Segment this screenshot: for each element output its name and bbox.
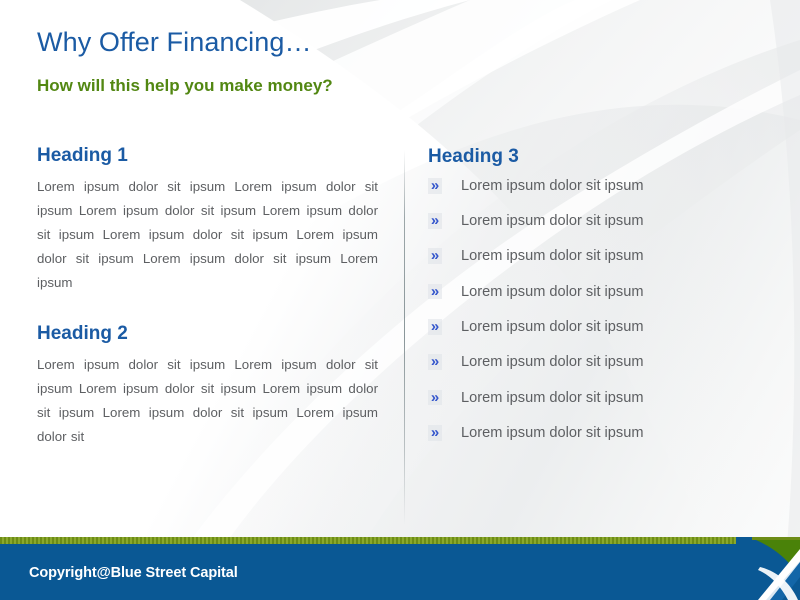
list-item: » Lorem ipsum dolor sit ipsum [428, 213, 768, 230]
double-chevron-icon: » [428, 354, 442, 370]
list-item-label: Lorem ipsum dolor sit ipsum [461, 319, 644, 336]
heading-1: Heading 1 [37, 146, 378, 167]
list-item: » Lorem ipsum dolor sit ipsum [428, 425, 768, 442]
list-item: » Lorem ipsum dolor sit ipsum [428, 178, 768, 195]
list-item-label: Lorem ipsum dolor sit ipsum [461, 248, 644, 265]
double-chevron-icon: » [428, 390, 442, 406]
list-item: » Lorem ipsum dolor sit ipsum [428, 284, 768, 301]
double-chevron-icon: » [428, 248, 442, 264]
heading-2: Heading 2 [37, 324, 378, 345]
list-item-label: Lorem ipsum dolor sit ipsum [461, 213, 644, 230]
list-item: » Lorem ipsum dolor sit ipsum [428, 354, 768, 371]
list-item-label: Lorem ipsum dolor sit ipsum [461, 178, 644, 195]
copyright-text: Copyright@Blue Street Capital [29, 565, 238, 581]
right-content-column: Heading 3 » Lorem ipsum dolor sit ipsum … [428, 147, 768, 460]
paragraph-2: Lorem ipsum dolor sit ipsum Lorem ipsum … [37, 353, 378, 449]
list-item-label: Lorem ipsum dolor sit ipsum [461, 284, 644, 301]
footer-green-stripe [0, 537, 800, 544]
double-chevron-icon: » [428, 213, 442, 229]
heading-3: Heading 3 [428, 147, 768, 168]
left-content-column: Heading 1 Lorem ipsum dolor sit ipsum Lo… [37, 146, 378, 449]
double-chevron-icon: » [428, 319, 442, 335]
slide-subtitle: How will this help you make money? [37, 76, 333, 96]
presentation-slide: Why Offer Financing… How will this help … [0, 0, 800, 600]
double-chevron-icon: » [428, 178, 442, 194]
double-chevron-icon: » [428, 284, 442, 300]
list-item: » Lorem ipsum dolor sit ipsum [428, 248, 768, 265]
list-item-label: Lorem ipsum dolor sit ipsum [461, 425, 644, 442]
list-item: » Lorem ipsum dolor sit ipsum [428, 319, 768, 336]
column-divider [404, 150, 405, 525]
blue-street-capital-logo-icon [736, 537, 800, 600]
section-spacer [37, 295, 378, 324]
double-chevron-icon: » [428, 425, 442, 441]
list-item: » Lorem ipsum dolor sit ipsum [428, 390, 768, 407]
list-item-label: Lorem ipsum dolor sit ipsum [461, 354, 644, 371]
slide-title: Why Offer Financing… [37, 27, 312, 58]
list-item-label: Lorem ipsum dolor sit ipsum [461, 390, 644, 407]
paragraph-1: Lorem ipsum dolor sit ipsum Lorem ipsum … [37, 175, 378, 295]
bullet-list: » Lorem ipsum dolor sit ipsum » Lorem ip… [428, 178, 768, 442]
